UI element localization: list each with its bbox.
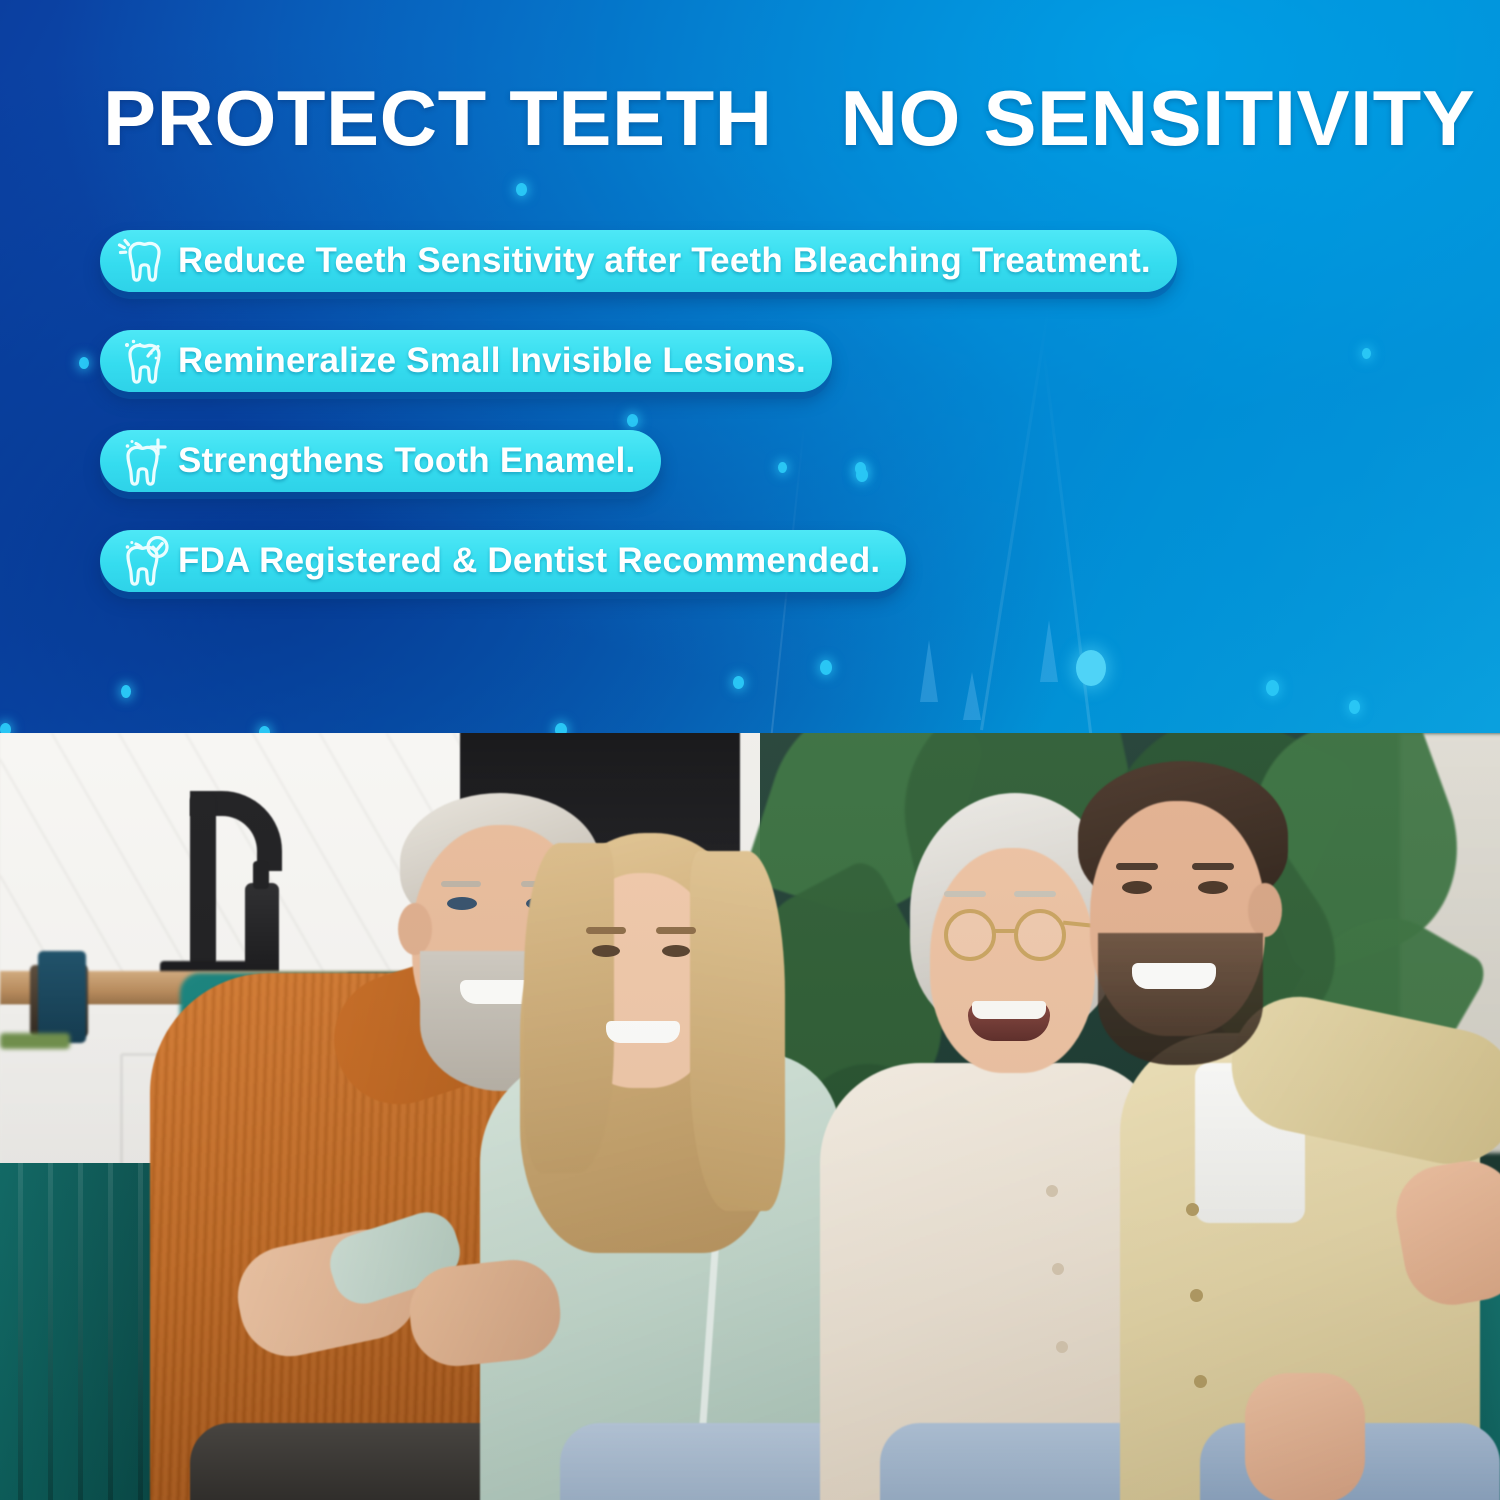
right-eye (1198, 881, 1228, 894)
decorative-dot (259, 726, 270, 733)
decorative-dot (0, 723, 11, 733)
arrow-accent-icon (920, 640, 938, 702)
decorative-dot (733, 676, 744, 689)
decorative-dot (1266, 680, 1279, 696)
sofa-rib (48, 1163, 53, 1500)
arrow-accent-icon (963, 672, 981, 720)
right-eye (662, 945, 690, 957)
sofa-rib (78, 1163, 83, 1500)
eyebrow-left (1116, 863, 1158, 870)
smiling-teeth (606, 1021, 680, 1043)
left-eye (1122, 881, 1152, 894)
resting-hand (1245, 1373, 1365, 1500)
decorative-dot (555, 723, 567, 733)
feature-label: Reduce Teeth Sensitivity after Teeth Ble… (178, 241, 1151, 281)
feature-item-3[interactable]: Strengthens Tooth Enamel. (100, 430, 661, 492)
glasses-lens-right (1014, 909, 1066, 961)
decorative-dot (820, 660, 832, 675)
decorative-dot (516, 183, 527, 196)
hair-front-strand (524, 843, 614, 1173)
eyebrow-left (441, 881, 481, 887)
sofa-rib (138, 1163, 143, 1500)
tooth-sparkle-icon (114, 236, 172, 286)
left-eye (447, 897, 477, 910)
lifestyle-photo (0, 733, 1500, 1500)
eyebrow-right (1014, 891, 1056, 897)
eyebrow-right (1192, 863, 1234, 870)
shirt-button (1194, 1375, 1207, 1388)
hair-back-strand (690, 851, 785, 1211)
kitchen-faucet-stem (190, 793, 216, 968)
feature-item-2[interactable]: Remineralize Small Invisible Lesions. (100, 330, 832, 392)
smiling-teeth (1132, 963, 1216, 989)
decorative-dot (79, 357, 89, 369)
dark-beard (1098, 933, 1263, 1065)
feature-label: Remineralize Small Invisible Lesions. (178, 341, 806, 381)
blouse-button (1046, 1185, 1058, 1197)
decorative-dot (1349, 700, 1360, 714)
feature-item-1[interactable]: Reduce Teeth Sensitivity after Teeth Ble… (100, 230, 1177, 292)
feature-label: FDA Registered & Dentist Recommended. (178, 541, 880, 581)
eyebrow-left (586, 927, 626, 934)
promo-poster: PROTECT TEETH NO SENSITIVITY Reduce Teet… (0, 0, 1500, 1500)
page-title: PROTECT TEETH NO SENSITIVITY (103, 76, 1449, 160)
tooth-check-icon (114, 536, 172, 586)
feature-list: Reduce Teeth Sensitivity after Teeth Ble… (100, 230, 1177, 630)
decorative-dot (1362, 348, 1371, 359)
hero-panel: PROTECT TEETH NO SENSITIVITY Reduce Teet… (0, 0, 1500, 733)
eyebrow-right (656, 927, 696, 934)
soap-pump (253, 861, 269, 889)
counter-vase (38, 951, 86, 1043)
sofa-rib (18, 1163, 23, 1500)
tooth-remineralize-icon (114, 336, 172, 386)
eyebrow-left (944, 891, 986, 897)
tooth-plus-icon (114, 436, 172, 486)
sofa-rib (108, 1163, 113, 1500)
feature-item-4[interactable]: FDA Registered & Dentist Recommended. (100, 530, 906, 592)
smiling-teeth (972, 1001, 1046, 1019)
left-eye (592, 945, 620, 957)
decorative-dot (121, 685, 131, 698)
blouse-button (1052, 1263, 1064, 1275)
glasses-bridge (995, 929, 1017, 933)
ear (1248, 883, 1282, 937)
counter-greenery (0, 1033, 70, 1049)
shirt-button (1186, 1203, 1199, 1216)
blouse-button (1056, 1341, 1068, 1353)
feature-label: Strengthens Tooth Enamel. (178, 441, 635, 481)
ear (398, 903, 432, 955)
shirt-button (1190, 1289, 1203, 1302)
glasses-lens-left (944, 909, 996, 961)
decorative-dot (1076, 650, 1106, 686)
